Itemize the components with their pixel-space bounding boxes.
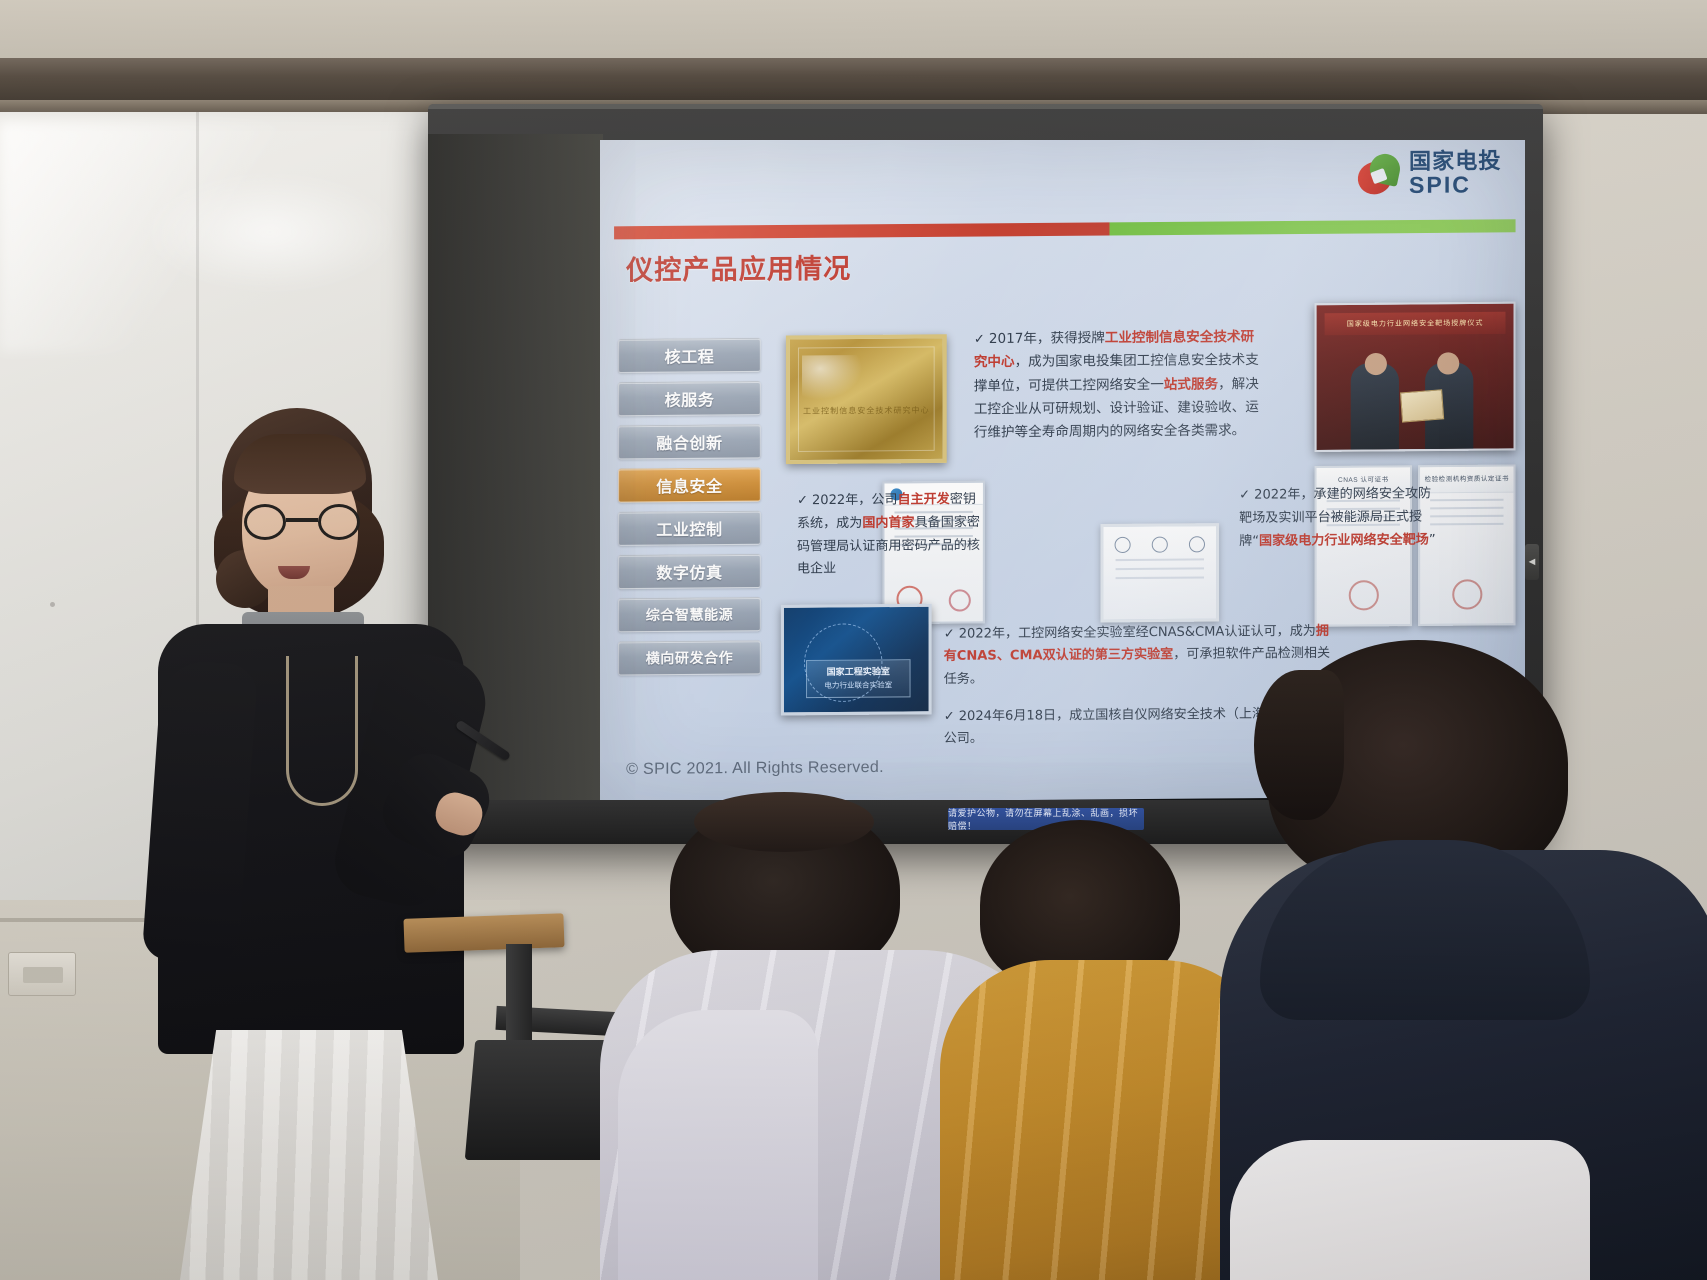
bullet-plain: 2022年，工控网络安全实验室经CNAS&CMA认证认可，成为 bbox=[959, 624, 1316, 642]
bullet-text: 2022年，公司自主开发密钥系统，成为国内首家具备国家密码管理局认证商用密码产品… bbox=[797, 492, 980, 577]
certificate-text-line bbox=[1116, 567, 1204, 570]
glasses-lens-left bbox=[244, 504, 286, 540]
band-green-segment bbox=[1110, 219, 1516, 235]
lab-signboard-line2: 电力行业联合实验室 bbox=[807, 679, 910, 691]
sidebar-tab-integrated-smart-energy[interactable]: 综合智慧能源 bbox=[618, 597, 761, 632]
bullet-highlight: 自主开发 bbox=[897, 492, 949, 507]
bullet-2022-range: ✓2022年，承建的网络安全攻防靶场及实训平台被能源局正式授牌“国家级电力行业网… bbox=[1239, 483, 1438, 553]
whiteboard-speck bbox=[50, 602, 55, 607]
bullet-check-icon: ✓ bbox=[1239, 488, 1250, 503]
certificate-icon-row bbox=[1104, 536, 1217, 553]
certificate-text-line bbox=[1116, 576, 1204, 579]
award-plaque-photo: 工业控制信息安全技术研究中心 bbox=[786, 334, 947, 464]
bullet-plain: 2022年，公司 bbox=[812, 492, 898, 508]
certificate-seal bbox=[1348, 580, 1378, 610]
student-front-right bbox=[1220, 640, 1707, 1280]
display-side-button[interactable]: ◄ bbox=[1525, 544, 1539, 580]
presenter-skirt bbox=[180, 1030, 438, 1280]
ceremony-person-left bbox=[1351, 363, 1399, 450]
certificate-seal-secondary bbox=[949, 589, 971, 611]
ceremony-certificate bbox=[1400, 389, 1444, 422]
lectern-top bbox=[403, 913, 564, 953]
slide-copyright: © SPIC 2021. All Rights Reserved. bbox=[626, 759, 884, 779]
wall-top-strip bbox=[0, 0, 1707, 62]
bullet-check-icon: ✓ bbox=[944, 709, 955, 724]
sidebar-tab-information-security[interactable]: 信息安全 bbox=[618, 467, 761, 502]
certificate-text-line bbox=[1430, 499, 1503, 502]
plaque-glare bbox=[802, 355, 862, 400]
bullet-check-icon: ✓ bbox=[944, 627, 955, 642]
sidebar-tab-nuclear-engineering[interactable]: 核工程 bbox=[618, 338, 761, 373]
bullet-highlight: 站式服务 bbox=[1164, 376, 1218, 393]
slide-sidebar-tabs: 核工程 核服务 融合创新 信息安全 工业控制 数字仿真 综合智慧能源 横向研发合… bbox=[618, 338, 761, 685]
spic-logo: 国家电投 SPIC bbox=[1356, 151, 1502, 198]
bullet-check-icon: ✓ bbox=[974, 332, 985, 347]
presenter-necklace bbox=[286, 656, 358, 806]
presenter-glasses bbox=[242, 504, 362, 540]
bullet-highlight: 国家级电力行业网络安全靶场 bbox=[1259, 532, 1429, 548]
spic-logo-mark bbox=[1356, 152, 1402, 199]
certificate-text-line bbox=[1116, 558, 1204, 561]
band-red-segment bbox=[614, 222, 1110, 239]
presenter-fringe bbox=[234, 434, 366, 494]
skirt-folds bbox=[180, 1030, 438, 1280]
logo-chinese-name: 国家电投 bbox=[1409, 151, 1501, 174]
student-white-garment bbox=[1230, 1140, 1590, 1280]
blackboard-rail bbox=[0, 58, 1707, 104]
glasses-lens-right bbox=[318, 504, 360, 540]
certificate-text-line bbox=[1430, 515, 1503, 518]
bullet-highlight: 国内首家 bbox=[862, 515, 914, 530]
sidebar-tab-horizontal-rd-cooperation[interactable]: 横向研发合作 bbox=[618, 640, 761, 675]
lab-signboard-line1: 国家工程实验室 bbox=[807, 664, 910, 678]
logo-english-name: SPIC bbox=[1409, 174, 1501, 198]
bullet-plain: ” bbox=[1429, 532, 1436, 547]
logo-wordmark: 国家电投 SPIC bbox=[1409, 151, 1501, 198]
ceremony-head-left bbox=[1365, 353, 1387, 375]
ceremony-head-right bbox=[1437, 352, 1459, 374]
certificate-text-line bbox=[1430, 523, 1503, 526]
display-bezel-highlight bbox=[428, 104, 1543, 109]
inspection-qualification-certificate-photo bbox=[1100, 523, 1219, 622]
sidebar-tab-industrial-control[interactable]: 工业控制 bbox=[618, 511, 761, 546]
national-lab-signboard-photo: 国家工程实验室 电力行业联合实验室 bbox=[781, 604, 932, 716]
lab-signboard: 国家工程实验室 电力行业联合实验室 bbox=[806, 659, 911, 698]
sidebar-tab-digital-simulation[interactable]: 数字仿真 bbox=[618, 554, 761, 589]
whiteboard-glare-2 bbox=[140, 172, 400, 292]
plaque-caption: 工业控制信息安全技术研究中心 bbox=[790, 405, 943, 417]
bullet-text: 2017年，获得授牌工业控制信息安全技术研究中心，成为国家电投集团工控信息安全技… bbox=[974, 329, 1259, 441]
bullet-check-icon: ✓ bbox=[797, 493, 808, 508]
cma-certificate-title: 检验检测机构资质认定证书 bbox=[1420, 473, 1513, 484]
bullet-plain: 2017年，获得授牌 bbox=[989, 330, 1105, 347]
title-color-band bbox=[614, 219, 1515, 239]
certificate-text-line bbox=[1430, 507, 1503, 510]
bullet-2022-key: ✓2022年，公司自主开发密钥系统，成为国内首家具备国家密码管理局认证商用密码产… bbox=[797, 489, 988, 582]
wall-outlet bbox=[8, 952, 76, 996]
glasses-bridge bbox=[286, 518, 318, 522]
bullet-2017: ✓2017年，获得授牌工业控制信息安全技术研究中心，成为国家电投集团工控信息安全… bbox=[974, 326, 1263, 445]
award-ceremony-photo: 国家级电力行业网络安全靶场授牌仪式 bbox=[1315, 302, 1516, 452]
sidebar-tab-nuclear-service[interactable]: 核服务 bbox=[618, 381, 761, 416]
certificate-seal bbox=[1452, 579, 1482, 609]
slide-title: 仪控产品应用情况 bbox=[626, 247, 851, 288]
sidebar-tab-fusion-innovation[interactable]: 融合创新 bbox=[618, 424, 761, 459]
ceremony-banner: 国家级电力行业网络安全靶场授牌仪式 bbox=[1325, 312, 1506, 336]
bullet-text: 2022年，承建的网络安全攻防靶场及实训平台被能源局正式授牌“国家级电力行业网络… bbox=[1239, 486, 1435, 548]
classroom-photo: ◄ 国家电投 SPIC bbox=[0, 0, 1707, 1280]
student-shoulder bbox=[618, 1010, 818, 1280]
